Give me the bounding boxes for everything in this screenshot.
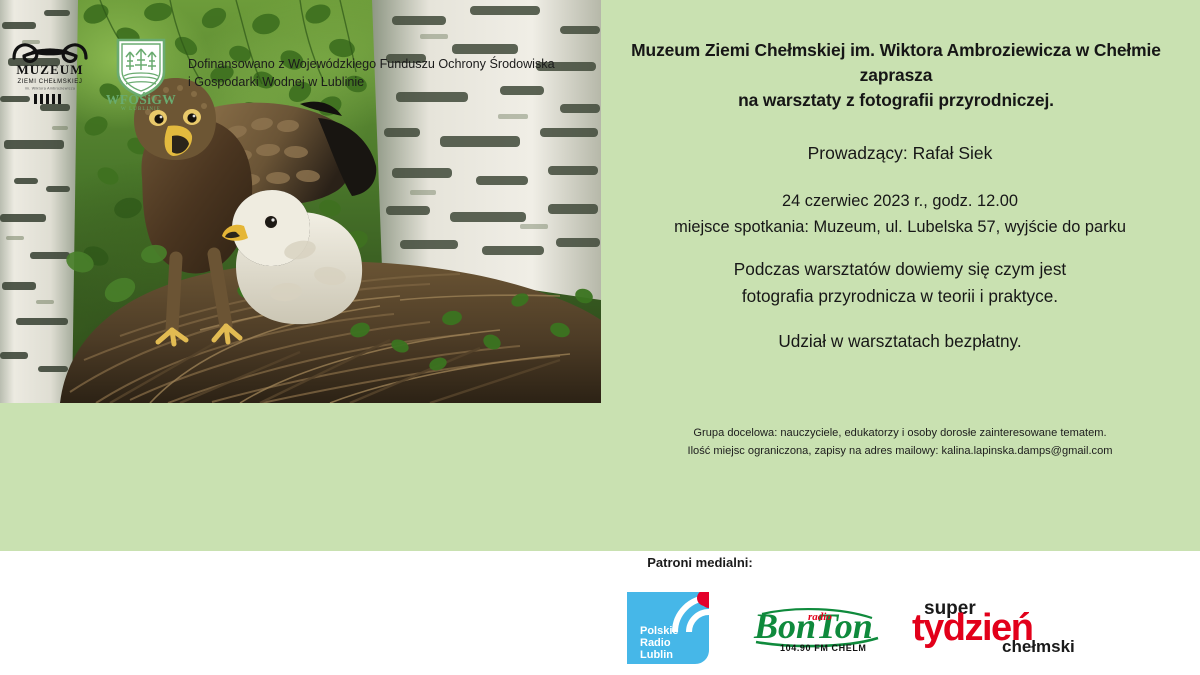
bonton-frequency: 104.90 FM CHELM [780,643,867,653]
wfosigw-shield-icon: WFOŚiGW W LUBLINIE [100,36,182,110]
headline-block: Muzeum Ziemi Chełmskiej im. Wiktora Ambr… [596,38,1196,113]
description-block: Podczas warsztatów dowiemy się czym jest… [610,256,1190,310]
radio-bon-ton-logo: BonTon radio 104.90 FM CHELM [750,598,886,654]
poster-root: Muzeum Ziemi Chełmskiej im. Wiktora Ambr… [0,0,1200,675]
media-patrons-label: Patroni medialni: [600,555,800,570]
headline-line-2: zaprasza [596,63,1196,88]
event-date-time: 24 czerwiec 2023 r., godz. 12.00 [610,188,1190,214]
wfosigw-subtitle: W LUBLINIE [121,107,161,110]
prl-line-1: Polskie [640,625,679,637]
grant-line-2: i Gospodarki Wodnej w Lublinie [188,73,588,91]
polskie-radio-lublin-logo: Polskie Radio Lublin [627,592,709,666]
super-tydzien-mark: super tydzień chełmski [910,592,1100,656]
headline-line-1: Muzeum Ziemi Chełmskiej im. Wiktora Ambr… [596,38,1196,63]
prl-line-3: Lublin [640,649,673,661]
registration-line: Ilość miejsc ograniczona, zapisy na adre… [610,443,1190,461]
grant-funding-text: Dofinansowano z Wojewódzkiego Funduszu O… [188,55,588,91]
presenter-line: Prowadzący: Rafał Siek [610,140,1190,166]
free-participation-note: Udział w warsztatach bezpłatny. [610,328,1190,355]
tydzien-sub-word: chełmski [1002,637,1075,656]
muzeum-logo-patron: im. Wiktora Ambroziewicza [25,87,75,91]
event-details-block: 24 czerwiec 2023 r., godz. 12.00 miejsce… [610,188,1190,240]
description-line-2: fotografia przyrodnicza w teorii i prakt… [610,283,1190,310]
muzeum-logo-mark: MUZEUM ZIEMI CHEŁMSKIEJ im. Wiktora Ambr… [8,38,92,104]
description-line-1: Podczas warsztatów dowiemy się czym jest [610,256,1190,283]
fineprint-block: Grupa docelowa: nauczyciele, edukatorzy … [610,425,1190,460]
poster-copy: Muzeum Ziemi Chełmskiej im. Wiktora Ambr… [600,0,1200,551]
muzeum-ziemi-chelmskiej-logo: MUZEUM ZIEMI CHEŁMSKIEJ im. Wiktora Ambr… [8,38,92,104]
muzeum-logo-word: MUZEUM [16,62,83,77]
prl-line-2: Radio [640,637,671,649]
super-tydzien-chelmski-logo: super tydzień chełmski [910,592,1100,656]
polskie-radio-lublin-mark: Polskie Radio Lublin [627,592,709,666]
grant-line-1: Dofinansowano z Wojewódzkiego Funduszu O… [188,55,588,73]
event-place: miejsce spotkania: Muzeum, ul. Lubelska … [610,214,1190,240]
bonton-radio-word: radio [808,611,832,623]
headline-line-3: na warsztaty z fotografii przyrodniczej. [596,88,1196,113]
muzeum-logo-subtitle: ZIEMI CHEŁMSKIEJ [18,79,83,85]
bon-ton-mark: BonTon radio 104.90 FM CHELM [750,598,886,654]
birch-trunk-right [372,0,601,300]
wfosigw-logo: WFOŚiGW W LUBLINIE [100,36,182,110]
wfosigw-wordmark: WFOŚiGW [106,92,176,107]
target-group-line: Grupa docelowa: nauczyciele, edukatorzy … [610,425,1190,443]
